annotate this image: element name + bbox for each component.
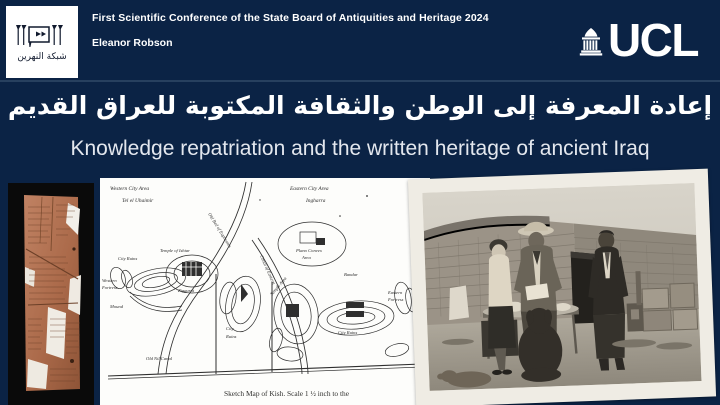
map-label-plano-convex-area2: Area (301, 255, 311, 260)
map-label-eastern-fortress2: Fortress (387, 297, 404, 302)
map-label-mound: Mound (109, 304, 124, 309)
excavation-archive-photograph (408, 169, 716, 405)
map-label-plano-convex-area: Plano Convex (295, 248, 322, 253)
nahrein-network-logo: شبكة النهرين (6, 6, 78, 78)
map-label-city-ruins-mid: City (226, 326, 235, 331)
page-title-english: Knowledge repatriation and the written h… (0, 136, 720, 161)
map-label-temple-of-ishtar: Temple of Ishtar (160, 248, 190, 253)
cuneiform-signs-icon (14, 23, 70, 49)
presentation-slide: شبكة النهرين First Scientific Conference… (0, 0, 720, 405)
title-band: إعادة المعرفة إلى الوطن والثقافة المكتوب… (0, 84, 720, 176)
sketch-map-of-kish: Western City Area Tel el Uhaimir Eastern… (100, 178, 430, 405)
map-caption: Sketch Map of Kish. Scale 1 ½ inch to th… (224, 389, 350, 398)
logo-arabic-label: شبكة النهرين (17, 52, 66, 62)
map-label-old-nil-canal: Old Nil Canal (146, 356, 173, 361)
map-label-eastern-fortress: Eastern (387, 290, 403, 295)
map-label-ziggurat: Ziggurat (178, 288, 195, 293)
map-label-tel-el-uhaimir: Tel el Uhaimir (122, 198, 154, 204)
map-label-city-ruins-mid2: Ruins (225, 334, 237, 339)
map-label-western-city-area: Western City Area (110, 186, 149, 192)
page-title-arabic: إعادة المعرفة إلى الوطن والثقافة المكتوب… (0, 90, 720, 121)
map-label-city-ruins-east: City Ruins (338, 330, 357, 335)
map-label-bandar: Bandar (344, 272, 358, 277)
speaker-name: Eleanor Robson (92, 37, 489, 50)
tablet-illustration (8, 183, 94, 405)
map-label-western-fortress: Western (102, 278, 117, 283)
header-text-block: First Scientific Conference of the State… (92, 12, 489, 49)
map-label-western-fortress2: Fortress (101, 285, 118, 290)
ucl-wordmark: UCL (608, 22, 698, 60)
conference-title: First Scientific Conference of the State… (92, 12, 489, 25)
slide-header: شبكة النهرين First Scientific Conference… (0, 0, 720, 82)
photo-image (422, 183, 701, 391)
cuneiform-tablet-photo (8, 183, 94, 405)
header-divider (0, 80, 720, 82)
map-illustration: Western City Area Tel el Uhaimir Eastern… (100, 178, 430, 405)
ucl-logo: UCL (578, 22, 698, 60)
map-label-city-ruins-west: City Ruins (118, 256, 137, 261)
map-label-eastern-city-area: Eastern City Area (289, 186, 329, 192)
image-row: Western City Area Tel el Uhaimir Eastern… (0, 178, 720, 405)
photo-illustration (422, 183, 701, 391)
portico-building-icon (578, 27, 604, 57)
map-label-ingharra: Ingharra (305, 198, 326, 204)
